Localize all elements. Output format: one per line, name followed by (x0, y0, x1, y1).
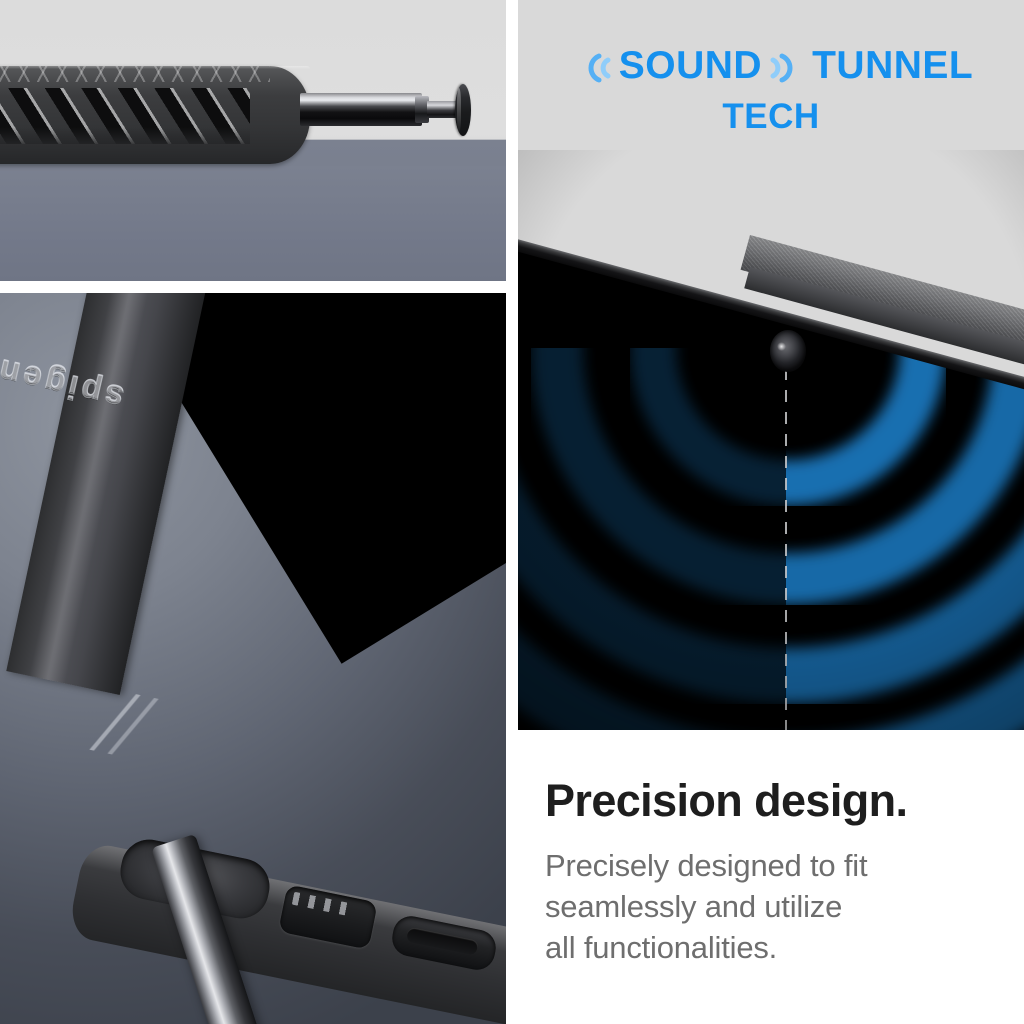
copy-body-line-3: all functionalities. (545, 927, 985, 968)
copy-body: Precisely designed to fit seamlessly and… (545, 845, 985, 968)
panel-case-edge-with-stylus (0, 0, 506, 281)
case-diamond-texture (0, 66, 270, 82)
speaker-port-icon (770, 330, 806, 372)
product-marketing-image: spigen SOUND TUNNEL TECH (0, 0, 1024, 1024)
panel-case-corner-with-stylus: spigen (0, 293, 506, 1024)
stylus-end-cap (455, 84, 471, 136)
copy-title: Precision design. (545, 778, 907, 823)
copy-block: Precision design. Precisely designed to … (518, 745, 1024, 1024)
brand-chevron-icon (53, 679, 184, 767)
headline-word-sound: SOUND (619, 44, 762, 87)
panel-sound-tunnel (518, 150, 1024, 730)
surface-shadow (0, 166, 506, 281)
headline-line-1: SOUND TUNNEL (518, 46, 1024, 85)
sound-wave-right-icon (770, 51, 804, 85)
center-split-dashed-line (785, 346, 787, 730)
case-shading-overlay (0, 88, 250, 144)
header-block: SOUND TUNNEL TECH (518, 0, 1024, 150)
case-frame-highlight (6, 293, 209, 695)
stylus-shaft (300, 93, 422, 126)
copy-body-line-2: seamlessly and utilize (545, 886, 985, 927)
sound-wave-left-icon (577, 51, 611, 85)
headline-line-2: TECH (518, 99, 1024, 134)
headline-word-tunnel: TUNNEL (812, 44, 973, 87)
copy-body-line-1: Precisely designed to fit (545, 845, 985, 886)
